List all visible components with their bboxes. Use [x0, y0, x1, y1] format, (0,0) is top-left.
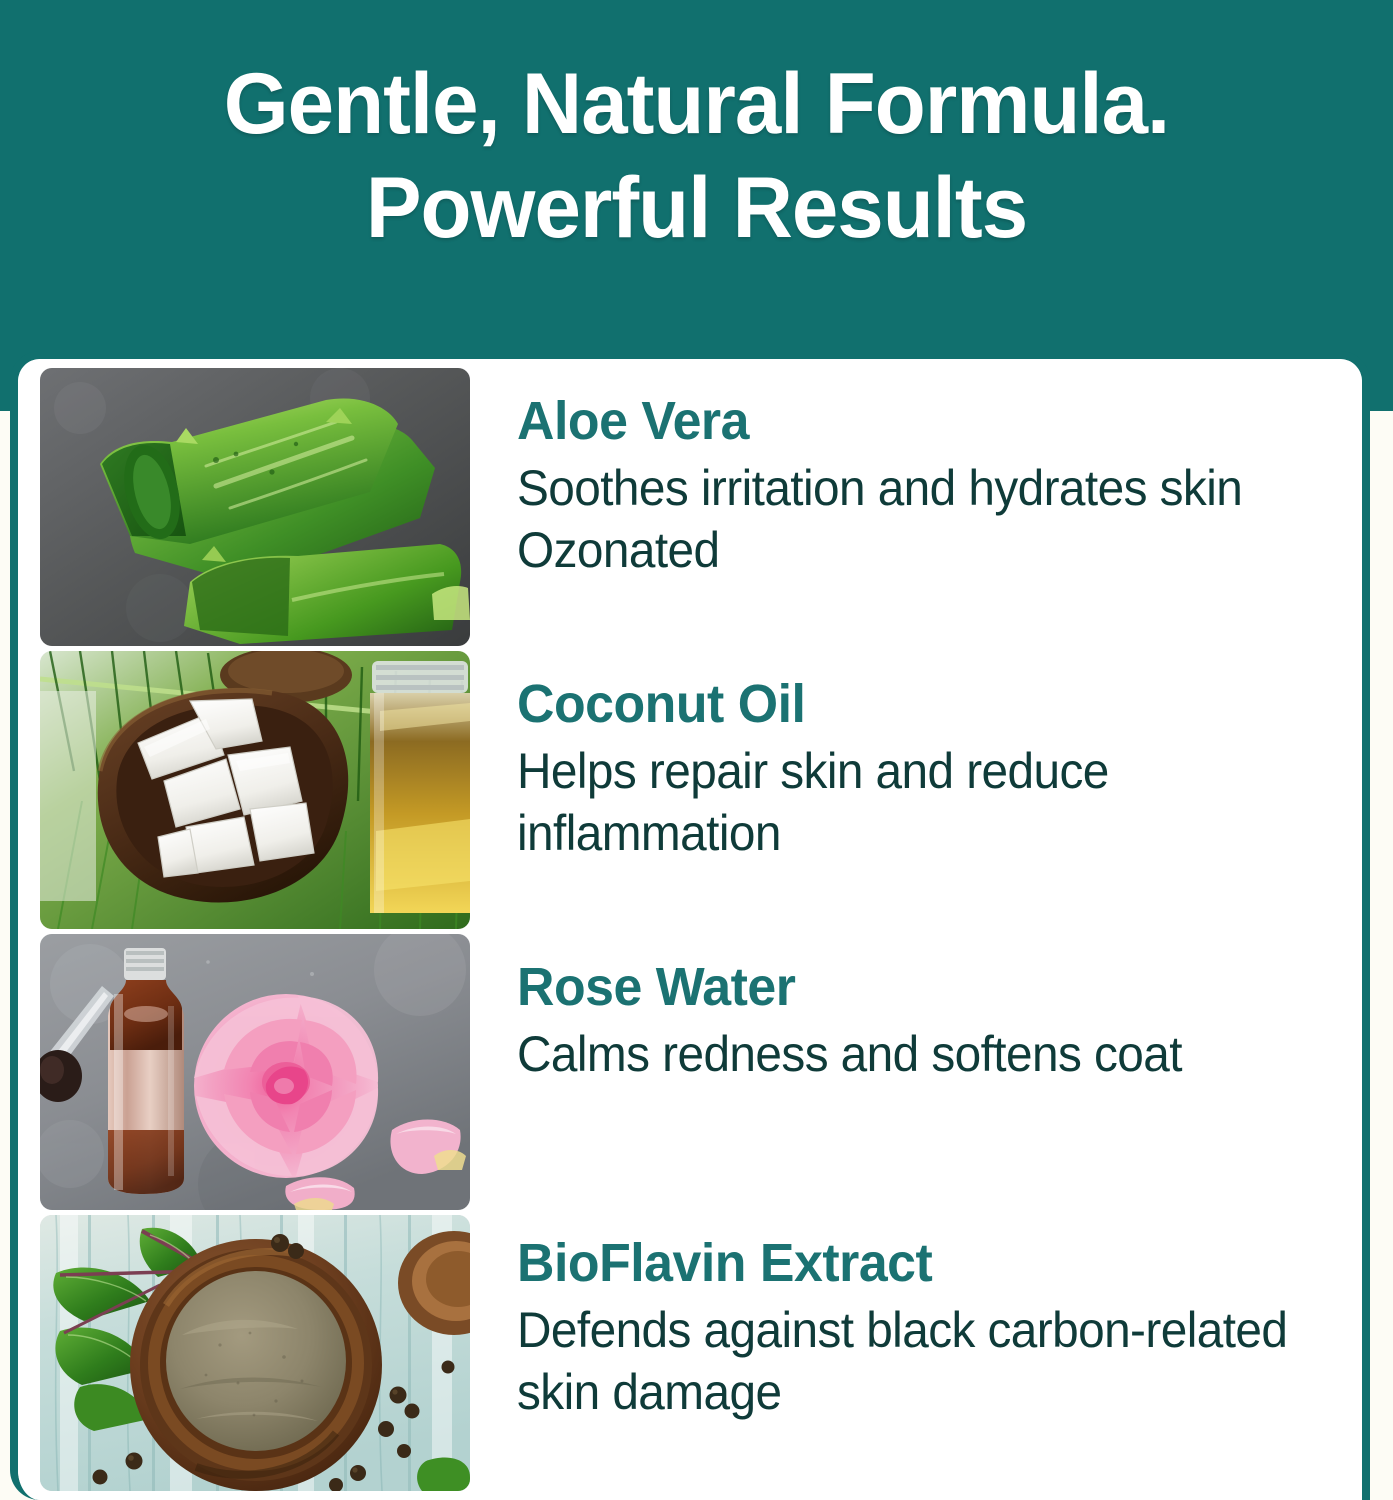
ingredient-copy: Coconut Oil Helps repair skin and reduce… — [470, 651, 1362, 864]
page-title-line-2: Powerful Results — [21, 156, 1372, 260]
ingredient-description: Calms redness and softens coat — [517, 1023, 1319, 1085]
ingredient-name: BioFlavin Extract — [517, 1233, 1328, 1293]
ingredient-description: Helps repair skin and reduce inflammatio… — [517, 740, 1319, 864]
header-banner: Gentle, Natural Formula. Powerful Result… — [0, 0, 1393, 411]
ingredients-card: Aloe Vera Soothes irritation and hydrate… — [10, 351, 1370, 1500]
coconut-oil-photo — [40, 651, 470, 929]
rose-water-photo — [40, 934, 470, 1210]
ingredient-description: Defends against black carbon-related ski… — [517, 1299, 1324, 1423]
ingredient-copy: BioFlavin Extract Defends against black … — [470, 1215, 1362, 1423]
pink-rose — [194, 994, 378, 1178]
ingredient-name: Coconut Oil — [517, 674, 1328, 734]
list-item: Aloe Vera Soothes irritation and hydrate… — [40, 368, 1362, 646]
page-title: Gentle, Natural Formula. Powerful Result… — [21, 52, 1372, 260]
aloe-vera-photo — [40, 368, 470, 646]
powder-bowl — [130, 1239, 382, 1491]
ingredient-name: Aloe Vera — [517, 391, 1328, 451]
list-item: Coconut Oil Helps repair skin and reduce… — [40, 651, 1362, 929]
list-item: Rose Water Calms redness and softens coa… — [40, 934, 1362, 1210]
infographic-page: Gentle, Natural Formula. Powerful Result… — [0, 0, 1393, 1500]
list-item: BioFlavin Extract Defends against black … — [40, 1215, 1362, 1491]
ingredient-description: Soothes irritation and hydrates skin Ozo… — [517, 457, 1319, 581]
ingredients-card-inner: Aloe Vera Soothes irritation and hydrate… — [18, 359, 1362, 1500]
ingredient-copy: Rose Water Calms redness and softens coa… — [470, 934, 1362, 1085]
ingredient-name: Rose Water — [517, 957, 1328, 1017]
bioflavin-extract-photo — [40, 1215, 470, 1491]
page-title-line-1: Gentle, Natural Formula. — [21, 52, 1372, 156]
ingredient-list: Aloe Vera Soothes irritation and hydrate… — [40, 368, 1362, 1491]
ingredient-copy: Aloe Vera Soothes irritation and hydrate… — [470, 368, 1362, 581]
